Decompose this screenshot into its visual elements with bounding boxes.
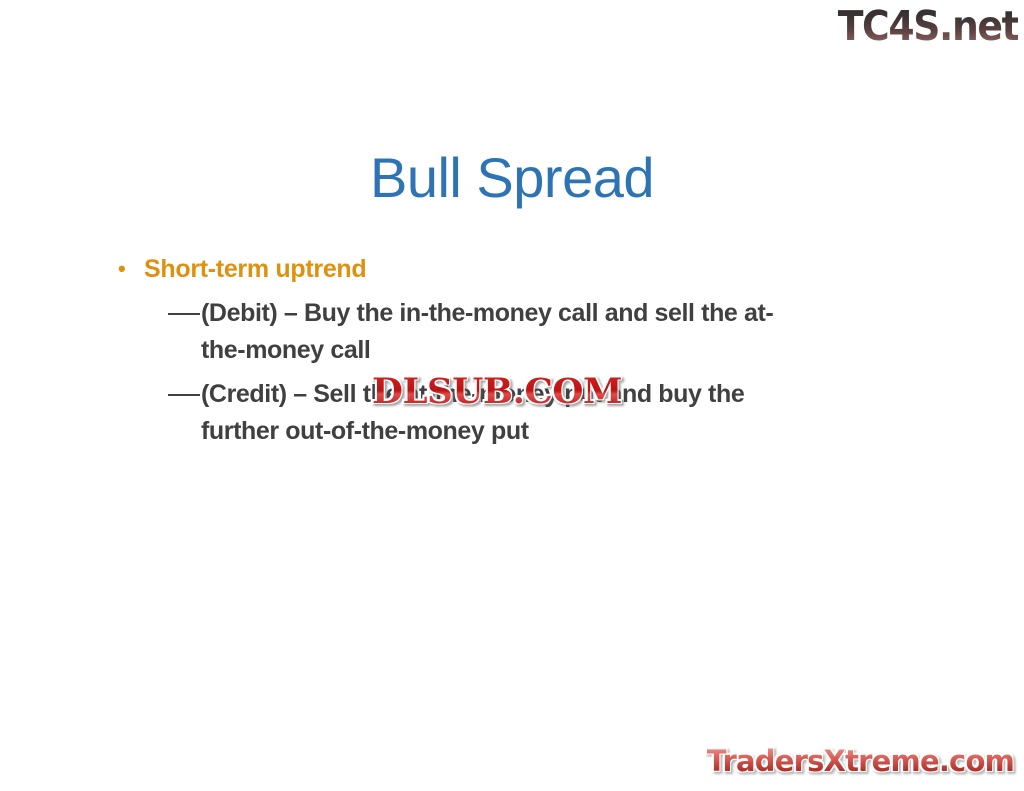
slide-title: Bull Spread	[0, 147, 1024, 209]
bullet-dot-icon: •	[118, 252, 144, 286]
slide-body-content: • Short-term uptrend (Debit) – Buy the i…	[118, 252, 878, 457]
tc4s-brand-logo: TC4S.net	[837, 2, 1018, 50]
dlsub-watermark: DLSUB.COM	[372, 373, 622, 411]
em-dash-bullet-icon	[168, 376, 201, 413]
tradersxtreme-watermark: TradersXtreme.com	[707, 744, 1014, 778]
bullet-level1-short-term-uptrend: • Short-term uptrend	[118, 252, 878, 286]
bullet-level1-label: Short-term uptrend	[144, 252, 366, 286]
bullet-level2-debit: (Debit) – Buy the in-the-money call and …	[168, 295, 788, 369]
bullet-level2-debit-label: (Debit) – Buy the in-the-money call and …	[201, 295, 788, 369]
presentation-slide: TC4S.net Bull Spread • Short-term uptren…	[0, 0, 1024, 791]
em-dash-bullet-icon	[168, 295, 201, 332]
